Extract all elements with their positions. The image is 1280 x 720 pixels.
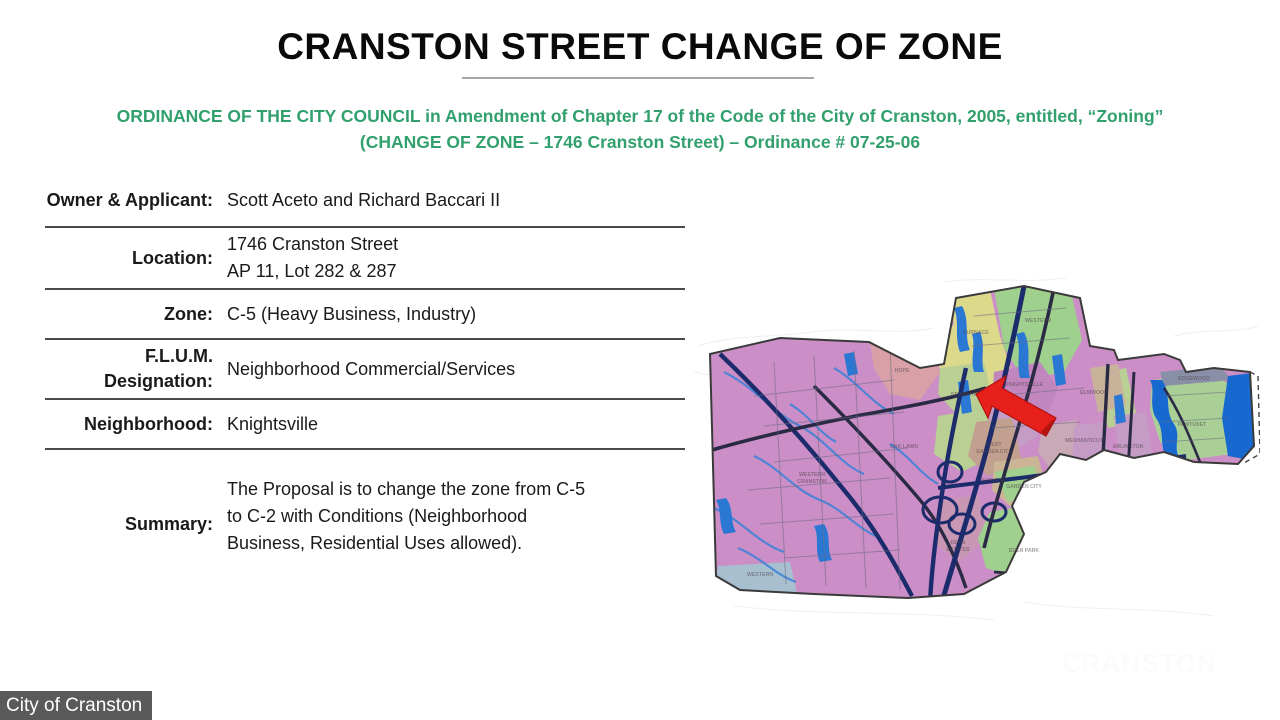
- svg-text:OAK LAWN: OAK LAWN: [890, 444, 918, 450]
- map-watermark: CRANSTON: [1062, 648, 1217, 679]
- svg-text:EDGEWOOD: EDGEWOOD: [1178, 376, 1210, 382]
- svg-text:WESTERN: WESTERN: [799, 472, 825, 478]
- row-label-line: Zone:: [164, 304, 213, 324]
- row-label-summary: Summary:: [45, 476, 227, 537]
- row-label-line: Summary:: [125, 514, 213, 534]
- svg-text:ESTATES: ESTATES: [946, 547, 970, 553]
- row-value-line: The Proposal is to change the zone from …: [227, 476, 685, 503]
- table-row-zone: Zone: C-5 (Heavy Business, Industry): [45, 290, 685, 338]
- table-row-flum-designation: F.L.U.M. Designation: Neighborhood Comme…: [45, 340, 685, 398]
- svg-text:GARDEN CITY: GARDEN CITY: [1006, 484, 1042, 490]
- row-value-line: Neighborhood Commercial/Services: [227, 356, 685, 383]
- property-info-table: Owner & Applicant: Scott Aceto and Richa…: [45, 174, 685, 596]
- title-divider: [462, 77, 814, 79]
- row-value-line: 1746 Cranston Street: [227, 231, 685, 258]
- svg-text:DEAN: DEAN: [951, 540, 966, 546]
- row-label-line: Location:: [132, 248, 213, 268]
- row-value-line: AP 11, Lot 282 & 287: [227, 258, 685, 285]
- table-row-owner-applicant: Owner & Applicant: Scott Aceto and Richa…: [45, 174, 685, 226]
- svg-text:PAWTUXET: PAWTUXET: [1178, 422, 1207, 428]
- svg-text:WEST: WEST: [987, 442, 1003, 448]
- row-value-line: Scott Aceto and Richard Baccari II: [227, 187, 685, 214]
- svg-text:WESTERN: WESTERN: [1025, 318, 1051, 324]
- row-label-line: Applicant:: [125, 190, 213, 210]
- table-row-summary: Summary: The Proposal is to change the z…: [45, 450, 685, 596]
- row-value-zone: C-5 (Heavy Business, Industry): [227, 301, 685, 328]
- row-label-owner-applicant: Owner & Applicant:: [45, 188, 227, 213]
- row-value-line: Knightsville: [227, 411, 685, 438]
- row-value-line: Business, Residential Uses allowed).: [227, 530, 685, 557]
- svg-text:FURNACE: FURNACE: [963, 330, 989, 336]
- svg-text:KNIGHTSVILLE: KNIGHTSVILLE: [1005, 382, 1044, 388]
- table-row-location: Location: 1746 Cranston Street AP 11, Lo…: [45, 228, 685, 288]
- row-label-line: F.L.U.M.: [145, 346, 213, 366]
- row-value-flum-designation: Neighborhood Commercial/Services: [227, 356, 685, 383]
- row-value-line: C-5 (Heavy Business, Industry): [227, 301, 685, 328]
- row-label-line: Owner &: [47, 190, 121, 210]
- row-label-line: Neighborhood:: [84, 414, 213, 434]
- row-value-neighborhood: Knightsville: [227, 411, 685, 438]
- row-value-line: to C-2 with Conditions (Neighborhood: [227, 503, 685, 530]
- row-label-flum-designation: F.L.U.M. Designation:: [45, 344, 227, 394]
- svg-text:HOPE: HOPE: [895, 368, 910, 374]
- svg-text:GARDEN CITY: GARDEN CITY: [976, 449, 1012, 455]
- row-value-owner-applicant: Scott Aceto and Richard Baccari II: [227, 187, 685, 214]
- svg-text:CRANSTON: CRANSTON: [797, 479, 827, 485]
- page-title: CRANSTON STREET CHANGE OF ZONE: [0, 26, 1280, 68]
- row-value-summary: The Proposal is to change the zone from …: [227, 476, 685, 557]
- row-label-zone: Zone:: [45, 302, 227, 327]
- svg-text:ELMWOOD: ELMWOOD: [1080, 390, 1108, 396]
- map-graphic: WESTERN CRANSTON OAK LAWN HOPE FURNACE W…: [694, 276, 1260, 628]
- ordinance-subtitle: ORDINANCE OF THE CITY COUNCIL in Amendme…: [90, 103, 1190, 155]
- row-label-line: Designation:: [104, 371, 213, 391]
- svg-text:MESHANTICUT: MESHANTICUT: [1065, 438, 1104, 444]
- table-row-neighborhood: Neighborhood: Knightsville: [45, 400, 685, 448]
- row-value-location: 1746 Cranston Street AP 11, Lot 282 & 28…: [227, 231, 685, 285]
- svg-text:AUBURN: AUBURN: [981, 478, 1004, 484]
- svg-text:EDEN PARK: EDEN PARK: [1009, 548, 1039, 554]
- speaker-caption-label: City of Cranston: [0, 691, 152, 720]
- row-label-neighborhood: Neighborhood:: [45, 412, 227, 437]
- row-label-location: Location:: [45, 246, 227, 271]
- cranston-locus-map: WESTERN CRANSTON OAK LAWN HOPE FURNACE W…: [694, 276, 1260, 628]
- svg-text:WESTERN: WESTERN: [747, 572, 773, 578]
- svg-text:ARLINGTON: ARLINGTON: [1113, 444, 1144, 450]
